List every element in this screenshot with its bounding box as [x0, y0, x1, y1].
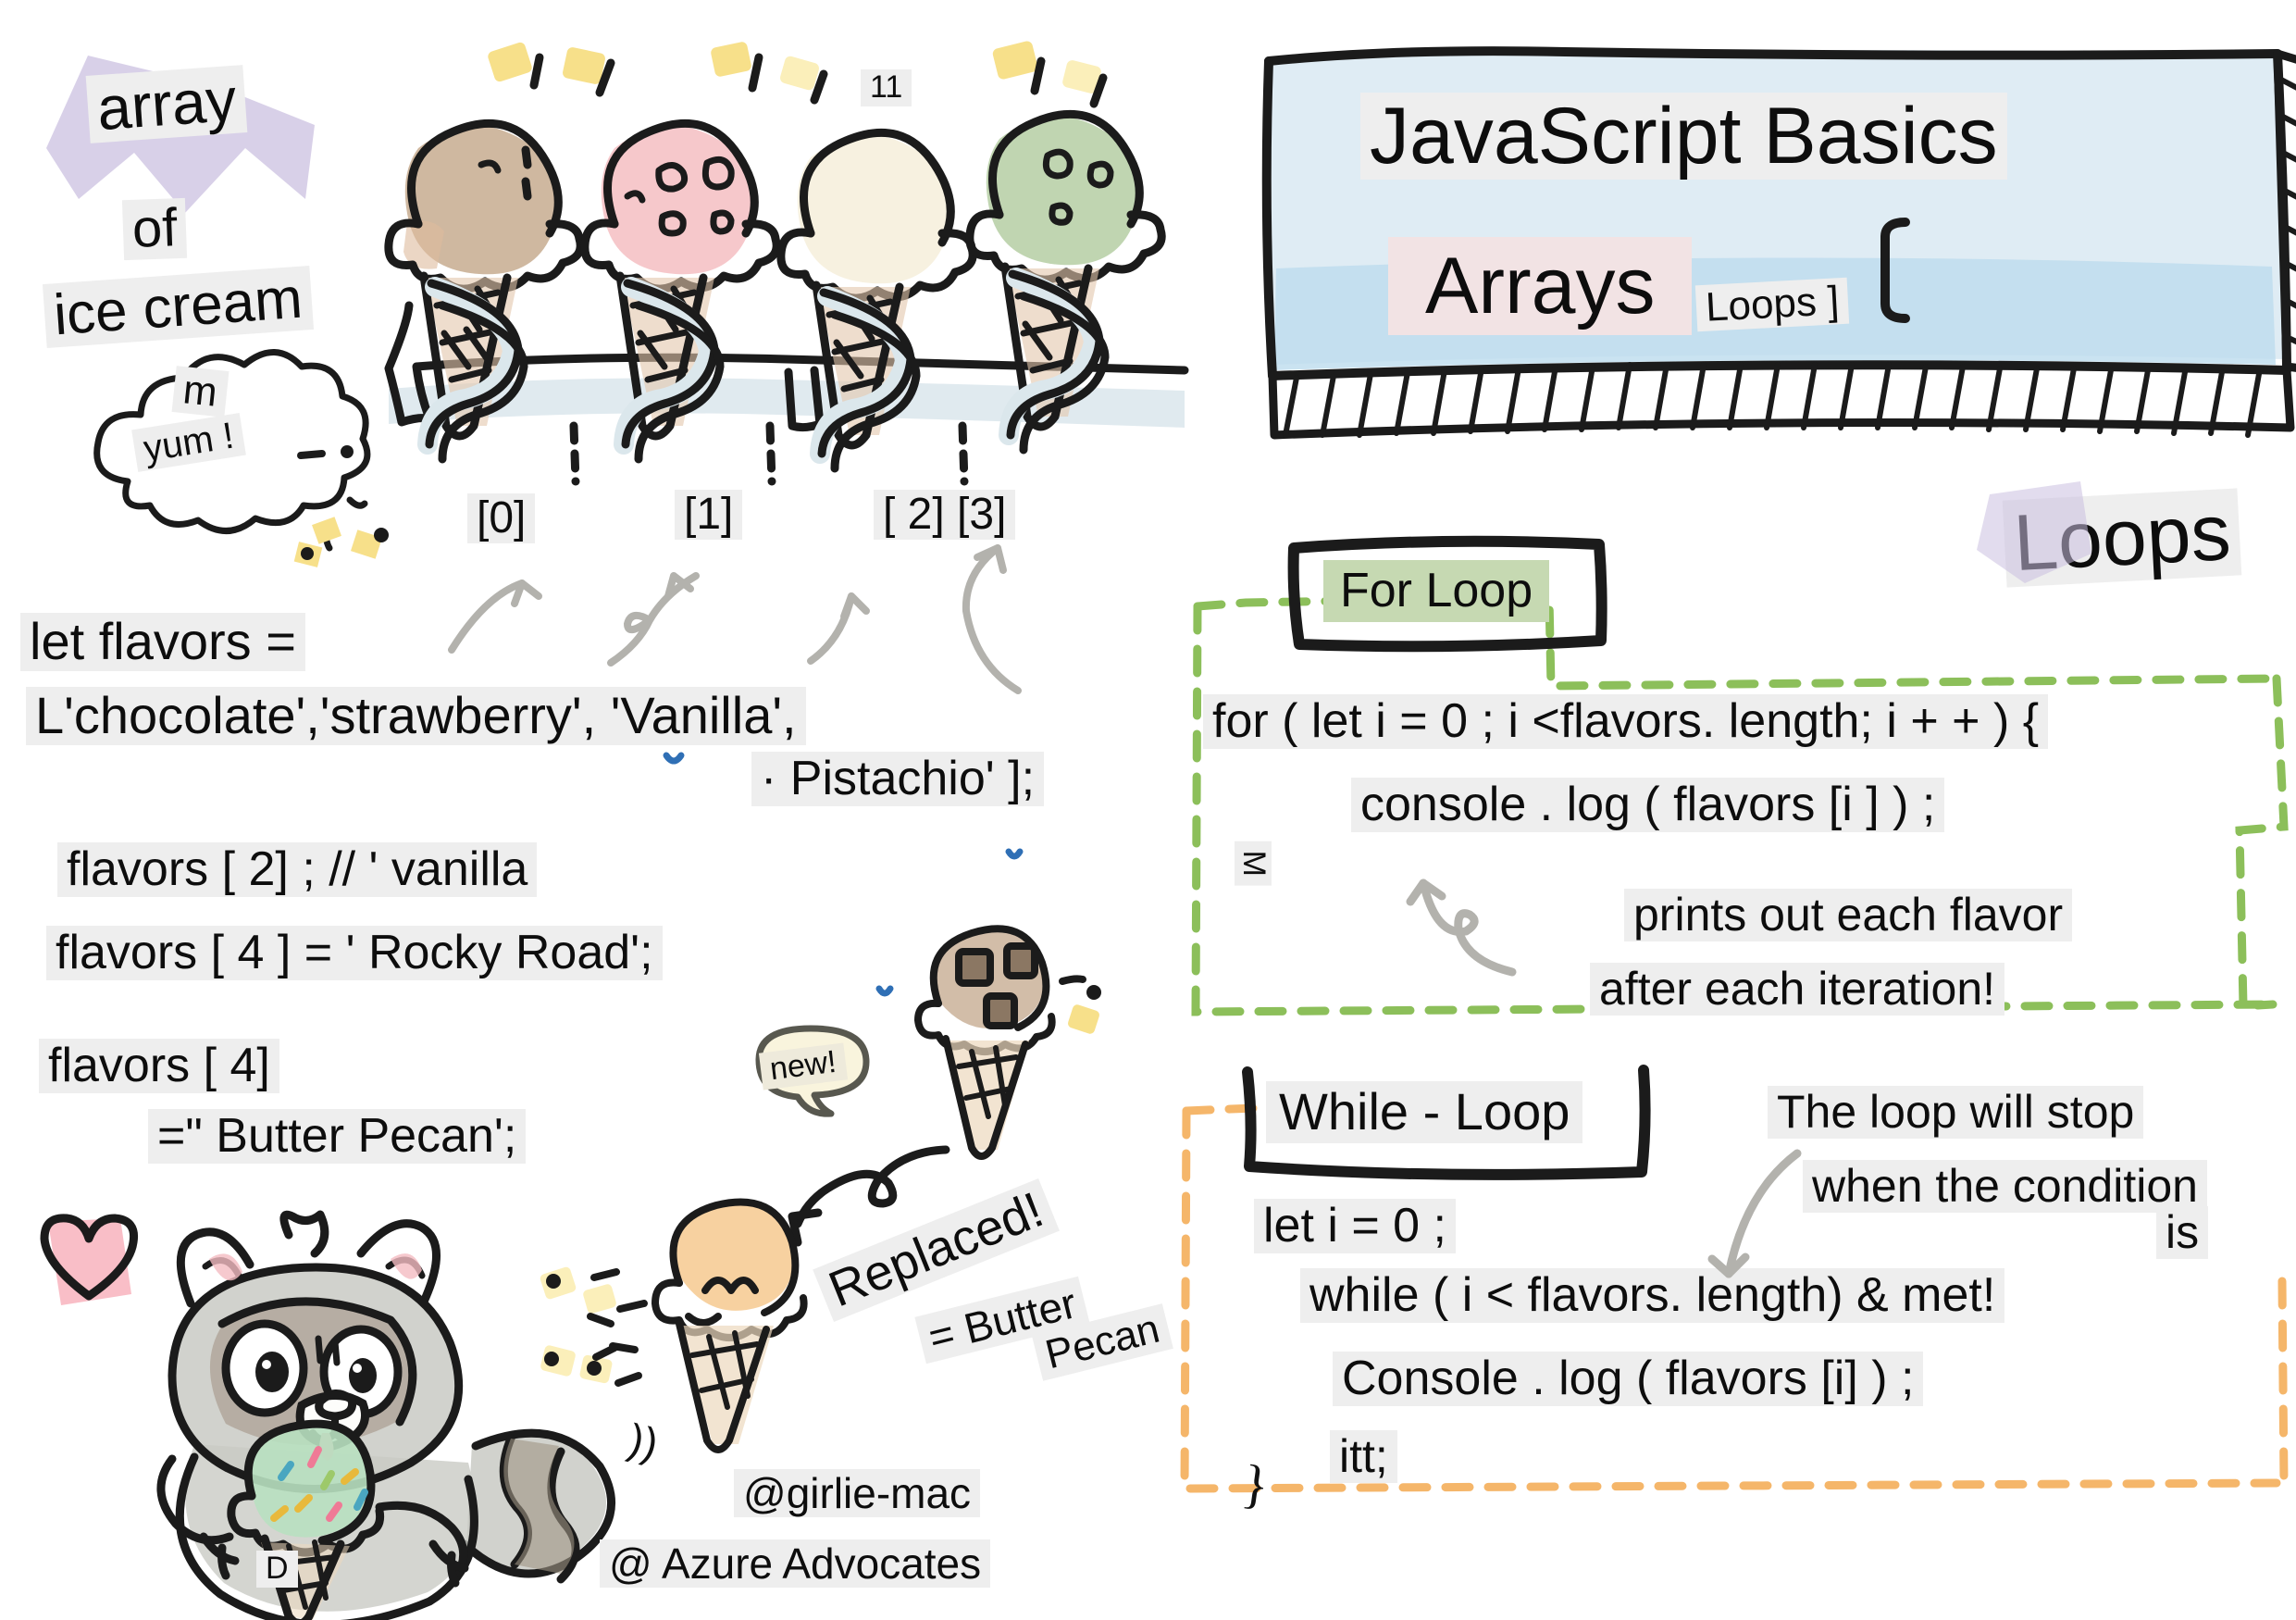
while-loop-code-line-2: while ( i < flavors. length) & met! — [1300, 1268, 2004, 1323]
for-loop-note-arrow — [1388, 870, 1536, 991]
while-loop-code-line-4: itt; — [1330, 1430, 1397, 1483]
code-line-assign-rocky-road: flavors [ 4 ] = ' Rocky Road'; — [46, 926, 663, 980]
title-line-javascript-basics: JavaScript Basics — [1360, 93, 2007, 180]
for-loop-code-line-2: console . log ( flavors [i ] ) ; — [1351, 778, 1944, 832]
code-line-declaration: let flavors = — [20, 613, 305, 671]
code-line-butter-pecan: =" Butter Pecan'; — [148, 1109, 526, 1164]
code-line-array-items: L'chocolate','strawberry', 'Vanilla', — [26, 687, 806, 745]
credit-org: @ Azure Advocates — [600, 1539, 990, 1588]
heading-line-of: of — [122, 198, 188, 260]
code-line-index-4: flavors [ 4] — [39, 1039, 279, 1093]
index-label-0: [0] — [467, 493, 535, 543]
raccoon-signature-mark: D — [256, 1551, 298, 1588]
small-chocolate-cone-icon — [907, 926, 1111, 1166]
title-line-arrays: Arrays — [1388, 237, 1692, 335]
sprinkle-cluster-bottom — [537, 1259, 703, 1444]
while-loop-label: While - Loop — [1266, 1081, 1582, 1143]
heading-line-icecream: ice cream — [43, 266, 314, 348]
code-line-access-index-2: flavors [ 2] ; // ' vanilla — [57, 842, 537, 897]
while-loop-note-line-3: is — [2156, 1206, 2208, 1259]
raccoon-illustration — [83, 1213, 602, 1620]
while-loop-code-line-1: let i = 0 ; — [1254, 1199, 1456, 1253]
thought-cloud-top-letter: m — [172, 366, 230, 417]
index-label-1: [1] — [675, 490, 742, 540]
index-label-2-3: [ 2] [3] — [874, 490, 1015, 540]
title-loops-tag: Loops ] — [1695, 278, 1850, 332]
credit-handle: @girlie-mac — [734, 1469, 980, 1517]
heading-line-array: array — [86, 65, 248, 143]
for-loop-code-line-1: for ( let i = 0 ; i <flavors. length; i … — [1203, 694, 2048, 749]
for-loop-label: For Loop — [1323, 560, 1549, 622]
ice-cream-cones-on-shelf — [370, 120, 1203, 472]
for-loop-note-line-2: after each iteration! — [1590, 963, 2004, 1016]
while-loop-note-arrow — [1694, 1148, 1823, 1287]
while-loop-note-line-2: when the condition — [1803, 1160, 2207, 1213]
while-loop-note-line-1: The loop will stop — [1768, 1086, 2143, 1139]
for-loop-note-line-1: prints out each flavor — [1624, 889, 2072, 941]
while-loop-code-line-3: Console . log ( flavors [i] ) ; — [1333, 1352, 1923, 1406]
for-loop-closing-brace-glyph: M — [1235, 841, 1272, 886]
